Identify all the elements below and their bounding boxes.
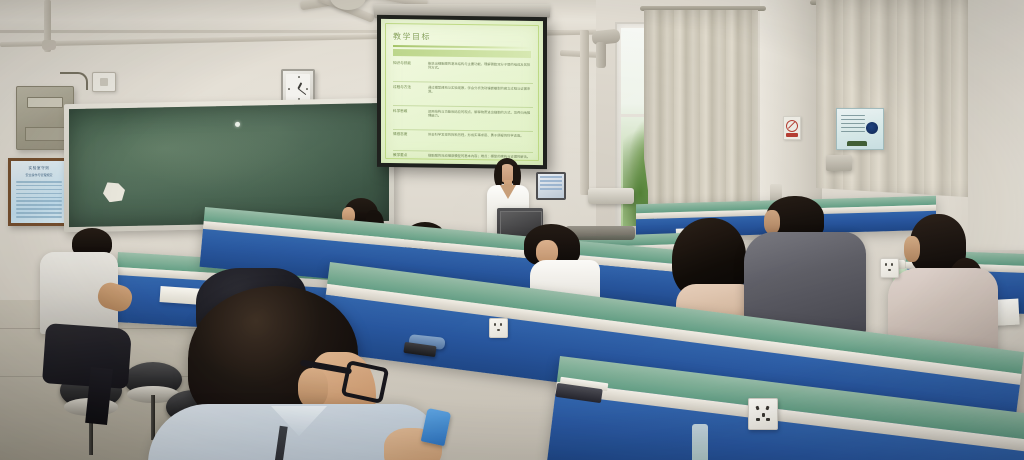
- meter-wire: [60, 72, 88, 90]
- power-outlet[interactable]: [489, 318, 508, 338]
- sign-graphic: [847, 141, 867, 146]
- meter-panel: [25, 127, 67, 141]
- notice-subtitle: 安全操作与管理规定: [25, 173, 52, 177]
- secondary-monitor: [536, 172, 566, 200]
- sign-text-lines: [841, 115, 865, 135]
- presentation-slide: 教学目标 知识与技能 能说出细胞膜的基本结构与主要功能，理解磷脂双分子层的组成及…: [381, 19, 543, 165]
- person-ear: [298, 368, 328, 408]
- slide-title: 教学目标: [393, 31, 431, 43]
- no-smoking-icon: [783, 116, 801, 140]
- wall-pillar: [968, 0, 1024, 250]
- clock-face: [286, 74, 310, 102]
- wall-pipe-vertical: [580, 30, 589, 195]
- blue-bottle-cap[interactable]: [421, 408, 452, 446]
- equipment-box: [588, 188, 634, 204]
- left-notice-board: 实验室守则 安全操作与管理规定: [8, 158, 70, 226]
- slide-row-key: 科学思维: [393, 109, 423, 118]
- slide-row-text: 通过模型建构与实验观察，学会分析流动镶嵌模型的建立过程与证据来源。: [428, 86, 533, 96]
- projector-screen: 教学目标 知识与技能 能说出细胞膜的基本结构与主要功能，理解磷脂双分子层的组成及…: [377, 15, 547, 169]
- switch-rocker[interactable]: [100, 78, 108, 86]
- wall-speaker-icon: [826, 155, 852, 171]
- meter-window: [27, 97, 63, 108]
- slide-row-key: 知识与技能: [393, 61, 423, 70]
- power-outlet[interactable]: [880, 258, 899, 278]
- seated-person: [36, 228, 122, 428]
- person-face: [904, 236, 920, 262]
- light-switch[interactable]: [92, 72, 116, 92]
- person-shin: [85, 367, 113, 425]
- conduit-joint: [42, 40, 56, 50]
- seated-person: [742, 196, 872, 336]
- clock-minute-hand: [298, 88, 307, 95]
- ac-pipe-vertical: [596, 42, 606, 68]
- notice-text-lines: [16, 181, 62, 220]
- power-outlet[interactable]: [748, 398, 778, 430]
- slide-row-key: 教学重点: [393, 153, 423, 158]
- sign-logo-icon: [866, 122, 878, 134]
- safety-info-sign: [836, 108, 884, 150]
- slide-row-text: 能说出细胞膜的基本结构与主要功能，理解磷脂双分子层的组成及其排列方式。: [428, 62, 533, 72]
- foreground-person: [148, 286, 448, 460]
- slide-row-text: 运用结构与功能相适应的观点，解释物质进出细胞的方式，培养归纳推理能力。: [428, 110, 533, 120]
- person-legs: [42, 323, 132, 389]
- classroom-photo: 实验室守则 安全操作与管理规定: [0, 0, 1024, 460]
- person-face: [764, 210, 780, 234]
- notice-title: 实验室守则: [29, 166, 50, 171]
- slide-row-key: 情感态度: [393, 132, 423, 137]
- slide-row-key: 过程与方法: [393, 85, 423, 94]
- seated-person: [512, 224, 598, 294]
- water-bottle[interactable]: [692, 424, 708, 460]
